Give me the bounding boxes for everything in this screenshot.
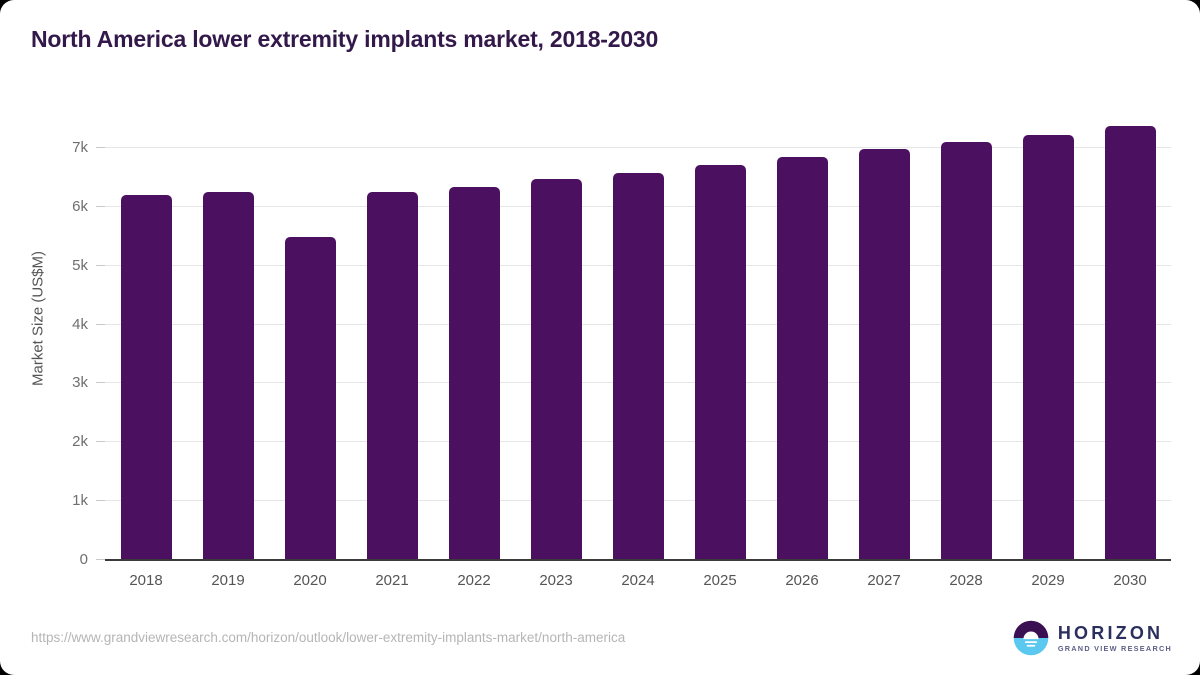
logo-text: HORIZON GRAND VIEW RESEARCH	[1058, 624, 1172, 652]
y-tick-mark	[96, 500, 105, 501]
x-tick-label: 2030	[1090, 572, 1170, 589]
bar[interactable]	[859, 149, 910, 559]
x-tick-label: 2023	[516, 572, 596, 589]
chart-page: North America lower extremity implants m…	[0, 0, 1200, 675]
bar[interactable]	[695, 165, 746, 559]
bar[interactable]	[121, 195, 172, 559]
x-tick-label: 2026	[762, 572, 842, 589]
source-url[interactable]: https://www.grandviewresearch.com/horizo…	[31, 630, 625, 645]
y-tick-label: 0	[32, 552, 88, 567]
axis-baseline	[105, 559, 1171, 561]
bar[interactable]	[941, 142, 992, 559]
x-tick-label: 2020	[270, 572, 350, 589]
bar[interactable]	[367, 192, 418, 559]
x-tick-label: 2029	[1008, 572, 1088, 589]
x-tick-label: 2022	[434, 572, 514, 589]
y-tick-mark	[96, 441, 105, 442]
bar[interactable]	[613, 173, 664, 559]
y-tick-label: 3k	[32, 375, 88, 390]
x-tick-label: 2028	[926, 572, 1006, 589]
bar[interactable]	[531, 179, 582, 559]
y-tick-mark	[96, 147, 105, 148]
y-tick-label: 7k	[32, 140, 88, 155]
y-tick-mark	[96, 559, 105, 560]
y-tick-label: 6k	[32, 199, 88, 214]
logo-tagline: GRAND VIEW RESEARCH	[1058, 645, 1172, 652]
y-tick-label: 1k	[32, 493, 88, 508]
y-tick-label: 5k	[32, 258, 88, 273]
y-tick-mark	[96, 382, 105, 383]
horizon-logo: HORIZON GRAND VIEW RESEARCH	[1013, 620, 1172, 656]
x-tick-label: 2019	[188, 572, 268, 589]
x-tick-label: 2027	[844, 572, 924, 589]
bar[interactable]	[285, 237, 336, 559]
bar[interactable]	[1105, 126, 1156, 559]
y-tick-mark	[96, 324, 105, 325]
plot-area	[105, 100, 1171, 559]
bar[interactable]	[449, 187, 500, 559]
x-tick-label: 2021	[352, 572, 432, 589]
bar[interactable]	[203, 192, 254, 559]
horizon-logo-icon	[1013, 620, 1049, 656]
x-tick-label: 2024	[598, 572, 678, 589]
bar[interactable]	[1023, 135, 1074, 559]
x-tick-label: 2018	[106, 572, 186, 589]
x-tick-label: 2025	[680, 572, 760, 589]
page-title: North America lower extremity implants m…	[31, 26, 658, 53]
y-tick-label: 2k	[32, 434, 88, 449]
bar-series	[105, 100, 1171, 559]
logo-name: HORIZON	[1058, 624, 1172, 642]
y-tick-mark	[96, 206, 105, 207]
y-tick-mark	[96, 265, 105, 266]
y-tick-label: 4k	[32, 317, 88, 332]
bar[interactable]	[777, 157, 828, 559]
